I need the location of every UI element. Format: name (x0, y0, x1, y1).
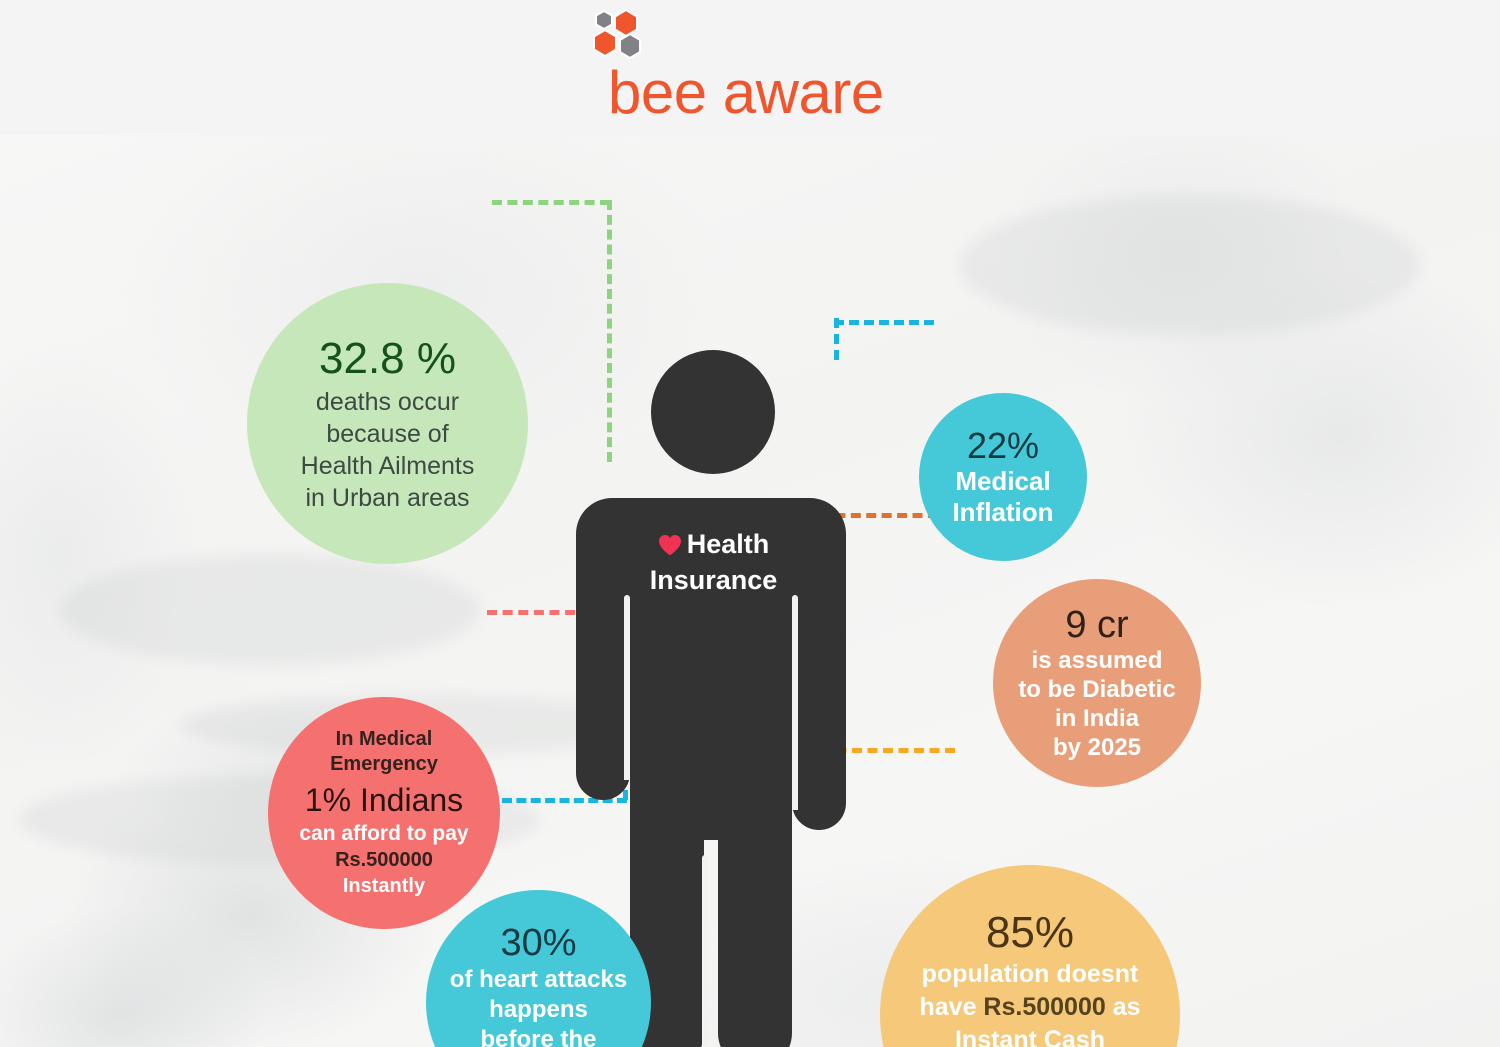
figure-label-line2: Insurance (650, 565, 778, 595)
figure-head (651, 350, 775, 474)
infographic-page: bee aware (0, 0, 1500, 1047)
bubble-headline: 9 cr (1065, 604, 1128, 646)
figure-right-arm-gap (792, 595, 798, 810)
figure-left-arm-gap (624, 595, 630, 780)
site-header: bee aware (0, 0, 1500, 136)
bubble-line-amount: have Rs.500000 as (919, 991, 1140, 1024)
bubble-line: in Urban areas (306, 482, 470, 514)
bubble-line: happens (489, 995, 588, 1025)
bubble-line: in India (1055, 704, 1139, 733)
figure-left-arm (576, 680, 630, 800)
health-insurance-label: Health Insurance (606, 528, 821, 597)
bubble-medical-inflation[interactable]: 22% Medical Inflation (919, 393, 1087, 561)
bubble-line: because of (326, 418, 448, 450)
bubble-diabetic-india[interactable]: 9 cr is assumed to be Diabetic in India … (993, 579, 1201, 787)
bubble-line: Rs.500000 (335, 847, 433, 873)
bubble-amount: Rs.500000 (983, 993, 1105, 1021)
bubble-line: to be Diabetic (1018, 675, 1175, 704)
bubble-no-instant-cash[interactable]: 85% population doesnt have Rs.500000 as … (880, 865, 1180, 1047)
bubble-line: Instantly (343, 873, 425, 899)
bubble-deaths-urban[interactable]: 32.8 % deaths occur because of Health Ai… (247, 283, 528, 564)
figure-leg-gap (702, 855, 708, 1047)
bubble-line: by 2025 (1053, 733, 1141, 762)
bubble-line: Instant Cash (955, 1024, 1105, 1047)
background-texture (960, 195, 1420, 335)
bubble-line: In Medical (336, 727, 433, 752)
bubble-headline: 22% (967, 426, 1039, 466)
bubble-medical-emergency-afford[interactable]: In Medical Emergency 1% Indians can affo… (268, 697, 500, 929)
bubble-line: Medical (955, 466, 1050, 497)
bubble-line-pre: have (919, 993, 983, 1021)
bubble-line: can afford to pay (299, 821, 468, 847)
heart-icon (658, 531, 682, 564)
figure-right-arm (792, 680, 846, 830)
bubble-line: Health Ailments (301, 450, 475, 482)
bubble-line: Inflation (952, 497, 1053, 528)
figure-right-leg (718, 770, 792, 1047)
bubble-headline: 32.8 % (319, 334, 456, 384)
bubble-line: is assumed (1032, 646, 1163, 675)
infographic-canvas: Health Insurance 32.8 % deaths occur bec… (0, 135, 1500, 1047)
bubble-line: of heart attacks (450, 965, 627, 995)
bubble-line: deaths occur (316, 386, 459, 418)
brand-title: bee aware (608, 62, 884, 124)
bubble-headline: 30% (500, 921, 576, 965)
background-texture (60, 555, 480, 665)
bubble-headline: 85% (986, 908, 1074, 958)
bubble-line: before the (480, 1025, 596, 1047)
cyan-top-connector-horizontal (834, 320, 934, 325)
bubble-line: population doesnt (922, 958, 1139, 991)
figure-label-line1: Health (658, 529, 770, 559)
green-connector-horizontal (492, 200, 610, 205)
bubble-line: Emergency (330, 752, 438, 777)
bubble-line-post: as (1106, 993, 1141, 1021)
bubble-headline: 1% Indians (305, 780, 463, 820)
